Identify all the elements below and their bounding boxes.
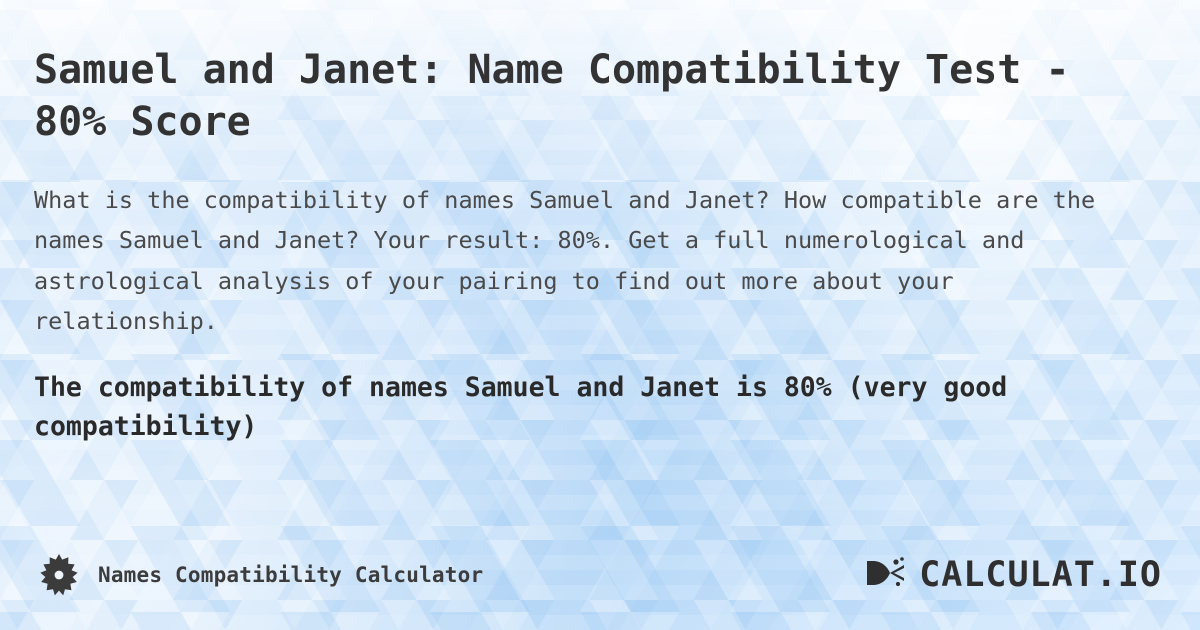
compatibility-result: The compatibility of names Samuel and Ja… (34, 368, 1154, 446)
page-title: Samuel and Janet: Name Compatibility Tes… (34, 44, 1144, 148)
star-burst-icon (38, 554, 80, 596)
calculatio-mark-icon (863, 553, 909, 597)
page-container: Samuel and Janet: Name Compatibility Tes… (0, 0, 1200, 630)
footer-brand: Names Compatibility Calculator (38, 554, 483, 596)
logo-wordmark: CALCULAT.IO (919, 555, 1162, 595)
page-description: What is the compatibility of names Samue… (34, 180, 1149, 342)
footer: Names Compatibility Calculator CALCULAT.… (0, 520, 1200, 630)
footer-logo: CALCULAT.IO (863, 553, 1162, 597)
site-name-label: Names Compatibility Calculator (98, 563, 483, 587)
content-area: Samuel and Janet: Name Compatibility Tes… (0, 0, 1200, 446)
